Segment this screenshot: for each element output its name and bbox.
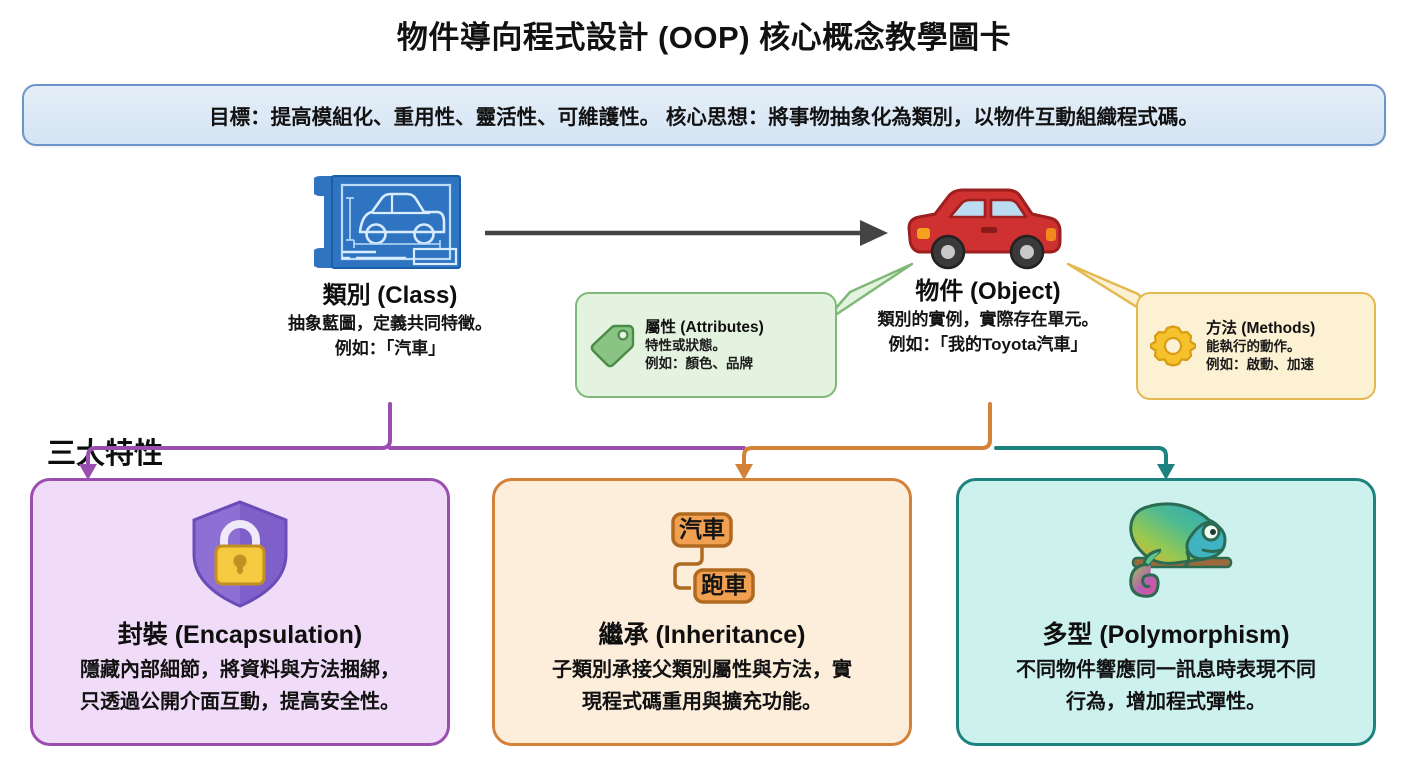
instantiation-arrow bbox=[480, 212, 890, 254]
class-desc-line1: 抽象藍圖，定義共同特徵。 bbox=[245, 313, 535, 335]
methods-line1: 能執行的動作。 bbox=[1206, 338, 1315, 356]
methods-line2: 例如：啟動、加速 bbox=[1206, 356, 1315, 374]
inheritance-desc-line2: 現程式碼重用與擴充功能。 bbox=[582, 689, 822, 715]
blueprint-icon bbox=[314, 170, 466, 274]
encapsulation-desc-line1: 隱藏內部細節，將資料與方法捆綁， bbox=[80, 657, 400, 683]
hierarchy-child-label: 跑車 bbox=[701, 572, 747, 598]
inheritance-desc-line1: 子類別承接父類別屬性與方法，實 bbox=[552, 657, 852, 683]
attributes-callout: 屬性 (Attributes) 特性或狀態。 例如：顏色、品牌 bbox=[575, 292, 837, 398]
polymorphism-desc-line1: 不同物件響應同一訊息時表現不同 bbox=[1016, 657, 1316, 683]
hierarchy-parent-label: 汽車 bbox=[679, 516, 725, 542]
oop-infographic: 物件導向程式設計 (OOP) 核心概念教學圖卡 目標：提高模組化、重用性、靈活性… bbox=[0, 0, 1408, 768]
attributes-line2: 例如：顏色、品牌 bbox=[645, 355, 764, 373]
class-node: 類別 (Class) 抽象藍圖，定義共同特徵。 例如：「汽車」 bbox=[245, 170, 535, 360]
methods-title: 方法 (Methods) bbox=[1206, 319, 1315, 338]
object-desc-line2: 例如：「我的Toyota汽車」 bbox=[838, 334, 1138, 356]
shield-lock-icon bbox=[188, 498, 292, 610]
attributes-line1: 特性或狀態。 bbox=[645, 337, 764, 355]
page-title: 物件導向程式設計 (OOP) 核心概念教學圖卡 bbox=[0, 12, 1408, 57]
pillar-card-encapsulation: 封裝 (Encapsulation) 隱藏內部細節，將資料與方法捆綁， 只透過公… bbox=[30, 478, 450, 746]
red-car-icon bbox=[903, 182, 1073, 274]
encapsulation-icon-wrap bbox=[188, 495, 292, 613]
class-hierarchy-icon: 汽車 跑車 bbox=[643, 498, 761, 610]
class-title: 類別 (Class) bbox=[245, 282, 535, 310]
polymorphism-desc-line2: 行為，增加程式彈性。 bbox=[1066, 689, 1266, 715]
encapsulation-desc-line2: 只透過公開介面互動，提高安全性。 bbox=[80, 689, 400, 715]
object-title: 物件 (Object) bbox=[838, 278, 1138, 306]
object-desc-line1: 類別的實例，實際存在單元。 bbox=[838, 309, 1138, 331]
gear-icon bbox=[1150, 323, 1196, 369]
pillar-card-inheritance: 汽車 跑車 繼承 (Inheritance) 子類別承接父類別屬性與方法，實 現… bbox=[492, 478, 912, 746]
attributes-title: 屬性 (Attributes) bbox=[645, 318, 764, 337]
inheritance-title: 繼承 (Inheritance) bbox=[599, 615, 806, 651]
chameleon-icon bbox=[1091, 498, 1241, 610]
pillar-connectors bbox=[0, 396, 1408, 486]
object-node: 物件 (Object) 類別的實例，實際存在單元。 例如：「我的Toyota汽車… bbox=[838, 182, 1138, 356]
goal-banner: 目標：提高模組化、重用性、靈活性、可維護性。 核心思想：將事物抽象化為類別，以物… bbox=[22, 84, 1386, 146]
tag-icon bbox=[589, 322, 635, 368]
polymorphism-title: 多型 (Polymorphism) bbox=[1042, 615, 1289, 651]
encapsulation-title: 封裝 (Encapsulation) bbox=[118, 615, 362, 651]
methods-callout: 方法 (Methods) 能執行的動作。 例如：啟動、加速 bbox=[1136, 292, 1376, 400]
class-desc-line2: 例如：「汽車」 bbox=[245, 338, 535, 360]
pillar-card-polymorphism: 多型 (Polymorphism) 不同物件響應同一訊息時表現不同 行為，增加程… bbox=[956, 478, 1376, 746]
polymorphism-icon-wrap bbox=[1091, 495, 1241, 613]
inheritance-icon-wrap: 汽車 跑車 bbox=[643, 495, 761, 613]
goal-banner-text: 目標：提高模組化、重用性、靈活性、可維護性。 核心思想：將事物抽象化為類別，以物… bbox=[209, 100, 1199, 130]
